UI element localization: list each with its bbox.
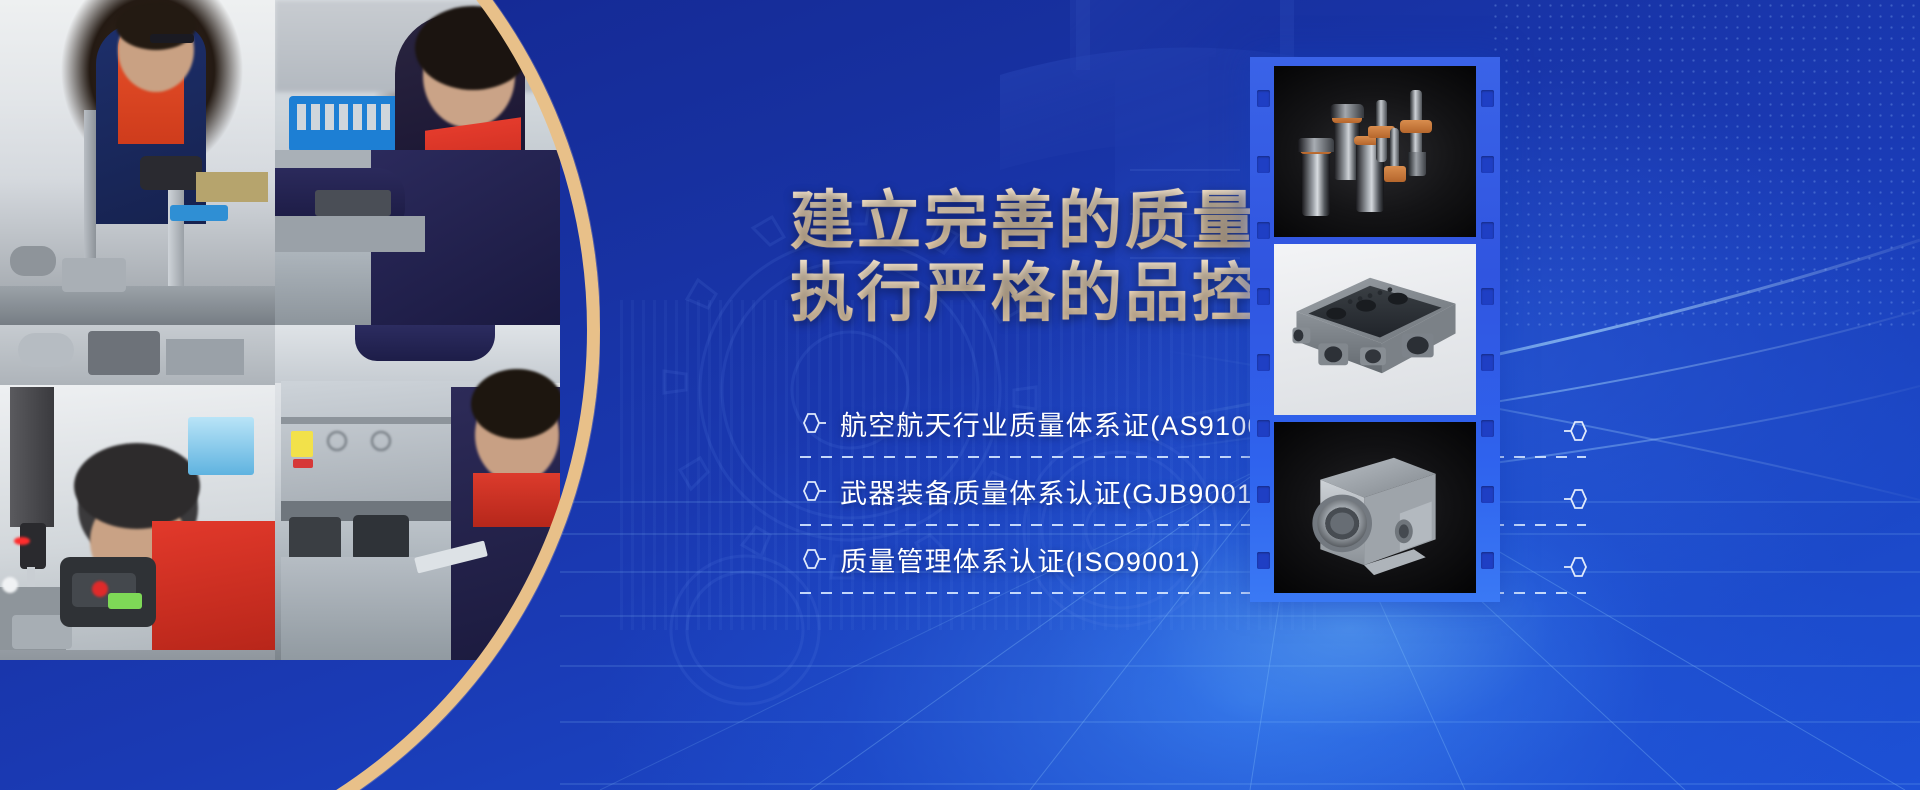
- photo-collage: [0, 0, 560, 660]
- perforation-column-right: [1476, 57, 1498, 602]
- list-item-label: 质量管理体系认证(ISO9001): [840, 540, 1201, 579]
- dot-grid-pattern: [1490, 0, 1920, 330]
- photo-cmm-operator: [0, 325, 275, 660]
- list-item-label: 航空航天行业质量体系证(AS9100D): [840, 404, 1295, 443]
- hexagon-end-icon: [1564, 556, 1590, 578]
- hexagon-bullet-icon: [800, 548, 826, 570]
- quality-system-banner: 建立完善的质量体系 执行严格的品控管理 航空航天行业质量体系证(AS9100D): [0, 0, 1920, 790]
- product-photo-aluminum-housing: [1274, 244, 1476, 415]
- hexagon-bullet-icon: [800, 480, 826, 502]
- perforation-column-left: [1252, 57, 1274, 602]
- product-film-strip: [1250, 57, 1500, 602]
- hexagon-end-icon: [1564, 488, 1590, 510]
- hexagon-end-icon: [1564, 420, 1590, 442]
- product-photo-precision-pins: [1274, 66, 1476, 237]
- photo-cnc-machine-operator: [275, 325, 560, 660]
- product-photo-bearing-block: [1274, 422, 1476, 593]
- list-item-label: 武器装备质量体系认证(GJB9001): [840, 472, 1263, 511]
- photo-technician-measuring: [275, 0, 560, 325]
- photo-inspector-height-gauge: [0, 0, 275, 325]
- hexagon-bullet-icon: [800, 412, 826, 434]
